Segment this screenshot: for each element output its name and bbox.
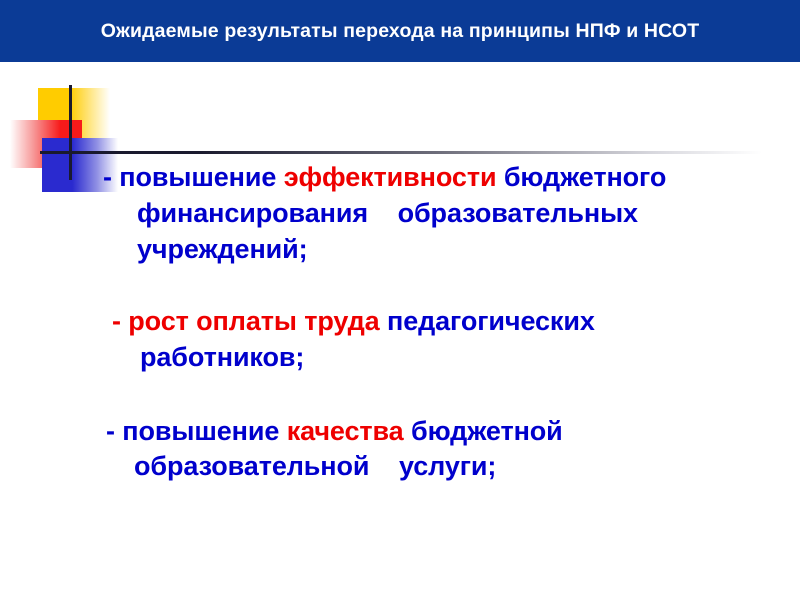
slide-title-bar: Ожидаемые результаты перехода на принцип… [0, 0, 800, 62]
bullet-2-line-1: - рост оплаты труда педагогических [112, 304, 800, 340]
bullet-1-line-1: - повышение эффективности бюджетного [103, 160, 800, 196]
horizontal-rule [40, 151, 762, 154]
bullet-2-line-2: работников; [140, 340, 800, 376]
bullet-1-highlight: эффективности [284, 162, 497, 192]
bullet-2-highlight: - рост оплаты труда [112, 306, 380, 336]
bullet-3-line-2: образовательной услуги; [134, 449, 800, 485]
bullet-1-text-before: - повышение [103, 162, 284, 192]
bullet-1-text-after: бюджетного [496, 162, 666, 192]
bullet-3-text-after: бюджетной [404, 416, 563, 446]
bullet-1-line-3: учреждений; [137, 232, 800, 268]
bullet-3-highlight: качества [287, 416, 404, 446]
bullet-1-line-2: финансирования образовательных [137, 196, 800, 232]
page-title: Ожидаемые результаты перехода на принцип… [101, 20, 700, 43]
bullet-3-text-before: - повышение [106, 416, 287, 446]
bullet-item-2: - рост оплаты труда педагогических работ… [112, 304, 800, 376]
slide-body: - повышение эффективности бюджетного фин… [0, 160, 800, 485]
bullet-item-3: - повышение качества бюджетной образоват… [106, 414, 800, 486]
bullet-item-1: - повышение эффективности бюджетного фин… [103, 160, 800, 268]
bullet-2-text-after: педагогических [380, 306, 595, 336]
bullet-3-line-1: - повышение качества бюджетной [106, 414, 800, 450]
